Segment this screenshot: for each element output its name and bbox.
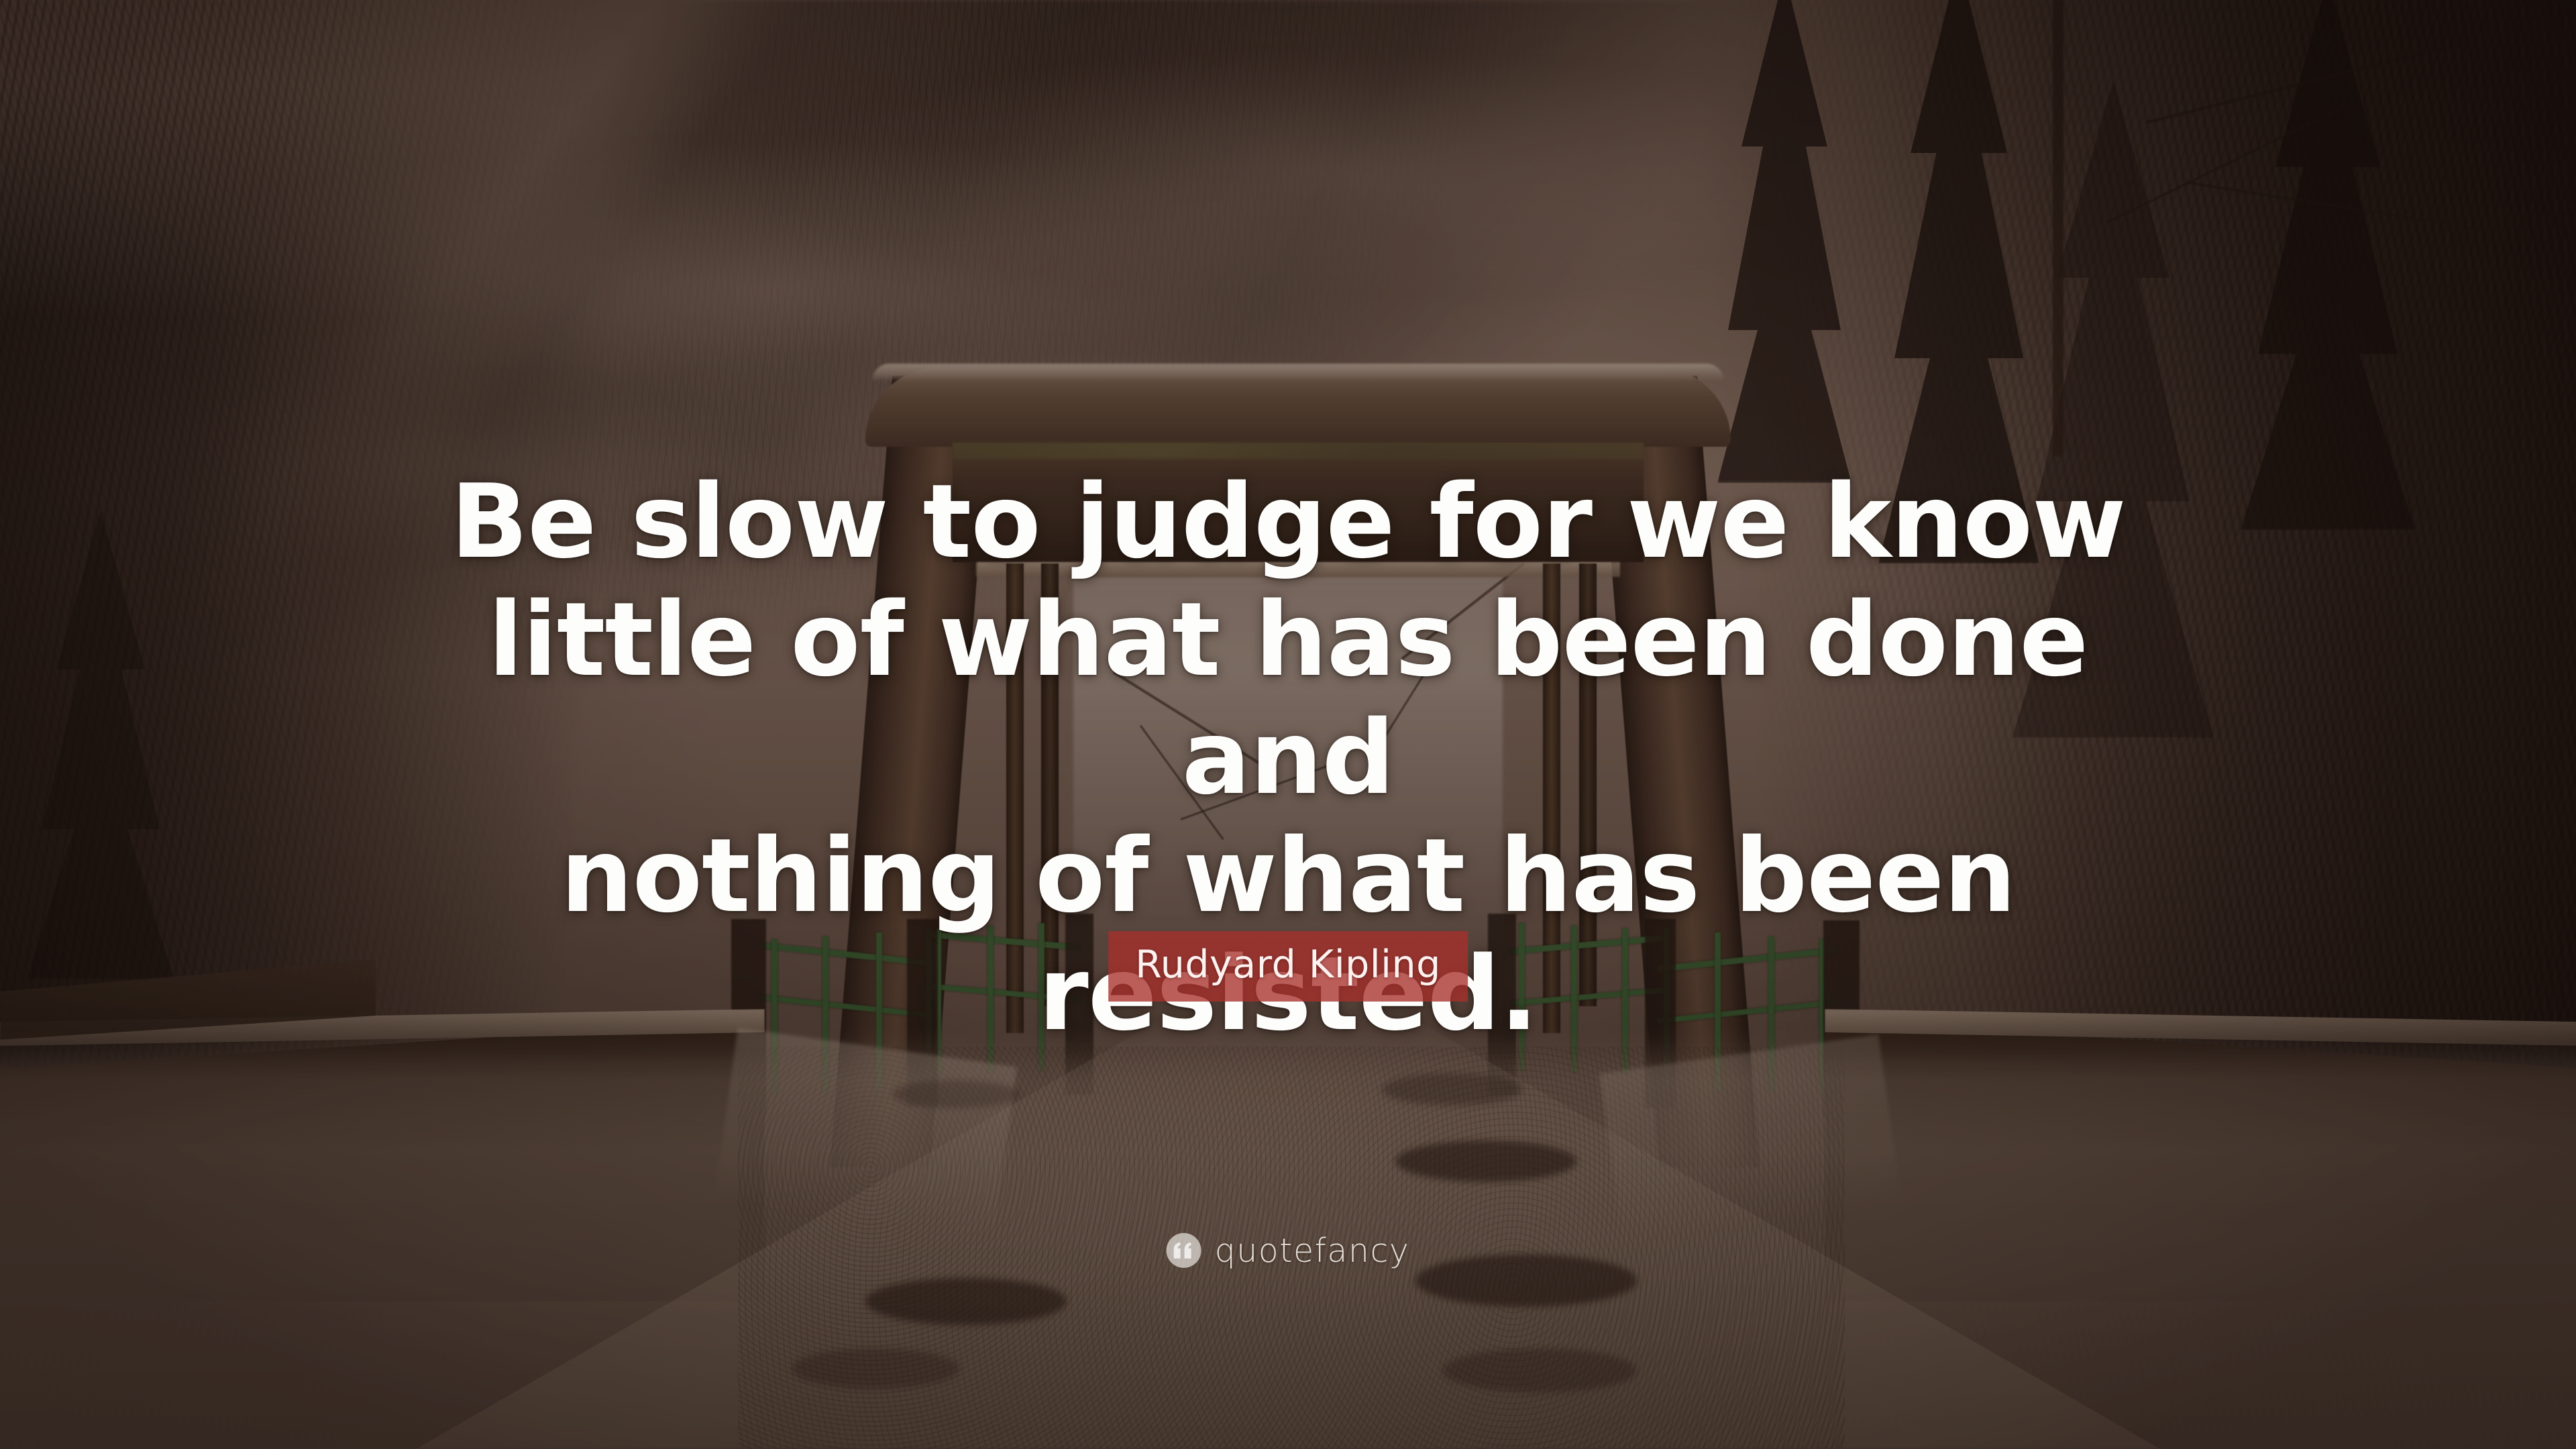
- author-badge-wrapper: Rudyard Kipling: [1108, 931, 1468, 1002]
- quote-image-canvas: Be slow to judge for we know little of w…: [0, 0, 2576, 1449]
- quote-mark-icon: [1167, 1233, 1201, 1268]
- author-name-badge[interactable]: Rudyard Kipling: [1108, 931, 1468, 1002]
- quotefancy-logo[interactable]: quotefancy: [1167, 1233, 1410, 1268]
- overlay-content: Be slow to judge for we know little of w…: [0, 0, 2576, 1449]
- quotefancy-wordmark: quotefancy: [1215, 1234, 1410, 1267]
